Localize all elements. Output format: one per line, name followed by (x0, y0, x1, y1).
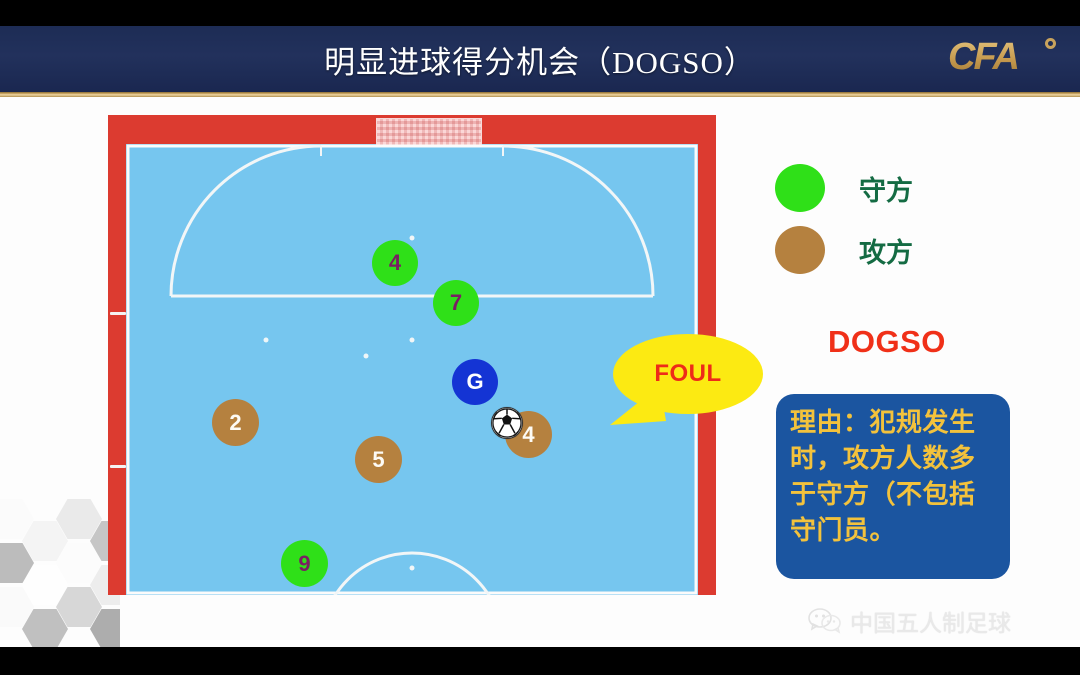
green-circle-icon (775, 164, 825, 212)
wechat-icon (808, 608, 842, 634)
player-number: 2 (229, 410, 241, 436)
player-marker[interactable]: 2 (212, 399, 259, 446)
player-number: 9 (298, 551, 310, 577)
soccer-ball-icon (491, 407, 523, 439)
letterbox-bottom (0, 647, 1080, 675)
goalkeeper-marker[interactable]: G (452, 359, 498, 405)
verdict-label: DOGSO (828, 324, 946, 360)
goal-net-icon (376, 118, 482, 146)
futsal-pitch: 4 7 G 2 4 5 9 (108, 115, 716, 595)
player-number: G (466, 369, 483, 395)
hexagon-decoration (0, 487, 120, 647)
reason-box: 理由：犯规发生时，攻方人数多于守方（不包括守门员。 (776, 394, 1010, 579)
slide-body: 4 7 G 2 4 5 9 (0, 97, 1080, 647)
foul-callout: FOUL (613, 334, 763, 414)
player-marker[interactable]: 5 (355, 436, 402, 483)
player-number: 4 (522, 422, 534, 448)
cfa-logo-text: CFA (948, 36, 1018, 79)
legend-item-defending: 守方 (775, 157, 1025, 219)
player-number: 5 (372, 447, 384, 473)
pitch-markings (126, 144, 698, 595)
foul-label: FOUL (654, 360, 721, 388)
letterbox-top (0, 0, 1080, 26)
watermark-text: 中国五人制足球 (850, 604, 1011, 638)
slide-root: 明显进球得分机会（DOGSO） CFA (0, 0, 1080, 675)
cfa-soccer-ball-icon (1045, 38, 1056, 49)
substitution-mark-upper (110, 312, 126, 315)
player-marker[interactable]: 7 (433, 280, 479, 326)
legend-label: 守方 (859, 169, 913, 208)
player-number: 4 (389, 250, 401, 276)
legend: 守方 攻方 (775, 157, 1025, 281)
cfa-logo: CFA (948, 36, 1058, 84)
legend-item-attacking: 攻方 (775, 219, 1025, 281)
substitution-mark-lower (110, 465, 126, 468)
player-marker[interactable]: 4 (372, 240, 418, 286)
page-title: 明显进球得分机会（DOGSO） (0, 26, 1080, 92)
legend-label: 攻方 (859, 231, 913, 270)
watermark: 中国五人制足球 (808, 604, 1011, 638)
reason-text: 理由：犯规发生时，攻方人数多于守方（不包括守门员。 (790, 406, 996, 550)
player-marker[interactable]: 9 (281, 540, 328, 587)
slide-header: 明显进球得分机会（DOGSO） CFA (0, 26, 1080, 92)
player-number: 7 (450, 290, 462, 316)
brown-circle-icon (775, 226, 825, 274)
